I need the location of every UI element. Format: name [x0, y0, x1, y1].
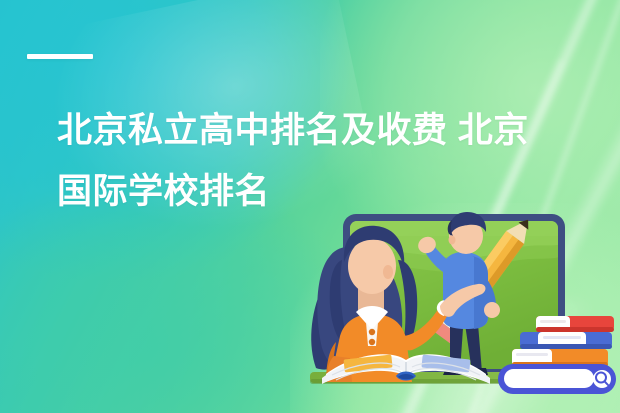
promo-banner: 北京私立高中排名及收费 北京 国际学校排名 [0, 0, 620, 413]
search-bar[interactable] [498, 364, 616, 394]
education-illustration [300, 196, 620, 413]
search-icon[interactable] [593, 370, 611, 388]
accent-rule [27, 54, 93, 59]
